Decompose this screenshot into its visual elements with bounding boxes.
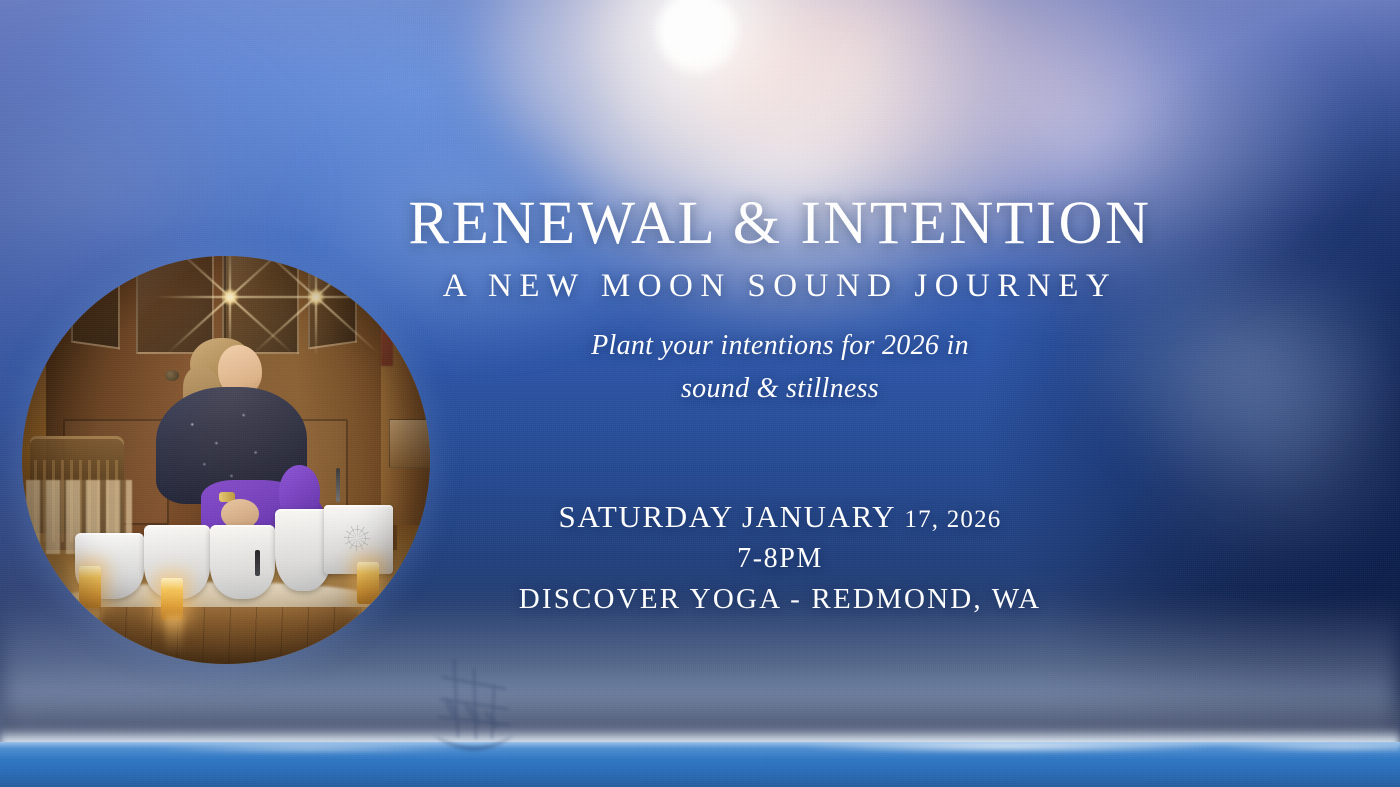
sea-sparkle: [0, 742, 1400, 766]
page-subtitle: A NEW MOON SOUND JOURNEY: [300, 268, 1260, 305]
event-poster: RENEWAL & INTENTION A NEW MOON SOUND JOU…: [0, 0, 1400, 787]
candle-2: [161, 578, 183, 620]
singing-bowl-3: [210, 525, 275, 598]
event-date-number: 17, 2026: [904, 506, 1001, 533]
bowl-mallet-1: [336, 468, 340, 502]
event-date-weekday-month: SATURDAY JANUARY: [559, 499, 896, 534]
tagline-line-1: Plant your intentions for 2026 in: [430, 325, 1130, 368]
tall-ship-icon: [408, 655, 538, 765]
event-time: 7-8PM: [350, 539, 1210, 579]
side-shelf: [389, 419, 430, 468]
event-date: SATURDAY JANUARY 17, 2026: [350, 495, 1210, 539]
door-glass-pane-1: [71, 261, 120, 349]
page-title: RENEWAL & INTENTION: [300, 192, 1260, 256]
candle-reflection-3: [83, 611, 101, 651]
wall-red-accent: [381, 313, 393, 366]
event-venue: DISCOVER YOGA - REDMOND, WA: [350, 579, 1210, 620]
resting-hands: [221, 499, 259, 528]
tagline-line-2: sound & stillness: [430, 368, 1130, 411]
bowl-mallet-2: [255, 550, 260, 576]
candle-1: [79, 566, 101, 608]
candle-reflection-1: [165, 615, 183, 655]
tagline: Plant your intentions for 2026 in sound …: [430, 325, 1130, 410]
event-details: SATURDAY JANUARY 17, 2026 7-8PM DISCOVER…: [350, 495, 1210, 620]
